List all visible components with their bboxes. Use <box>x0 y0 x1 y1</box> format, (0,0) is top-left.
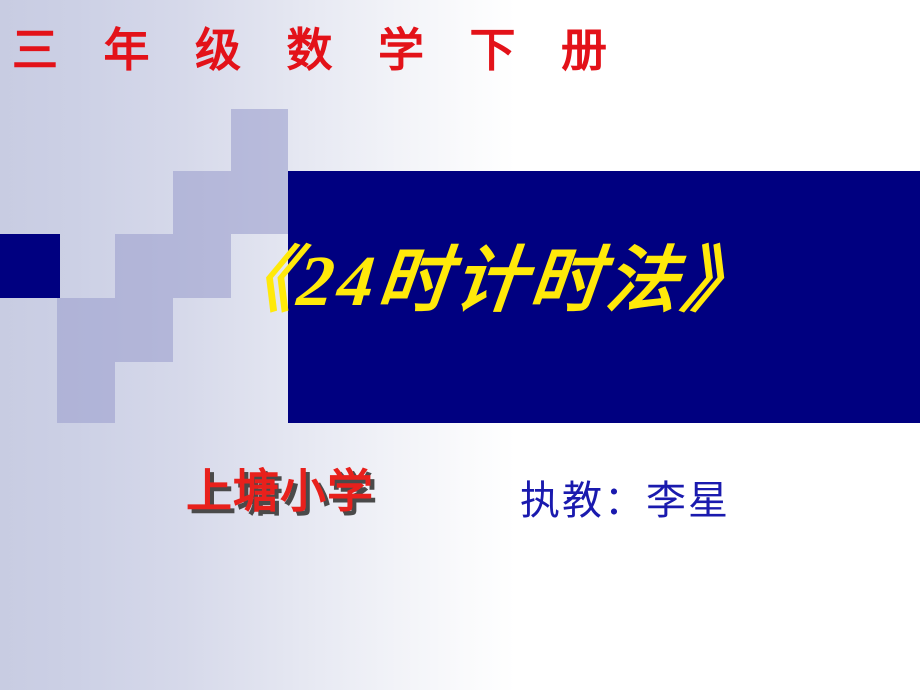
slide-main-title: 《24时计时法》 <box>136 244 844 320</box>
teacher-credit-label: 执教：李星 <box>520 468 730 526</box>
decor-tile <box>57 362 115 423</box>
navy-accent-square <box>0 234 60 298</box>
decor-tile <box>231 109 288 171</box>
presentation-slide: 三 年 级 数 学 下 册 《24时计时法》 上塘小学 执教：李星 <box>0 0 920 690</box>
decor-tile <box>173 171 231 234</box>
decor-tile <box>57 298 115 362</box>
school-name-label: 上塘小学 <box>186 455 374 521</box>
course-subject-heading: 三 年 级 数 学 下 册 <box>12 26 624 77</box>
decor-tile <box>231 171 288 234</box>
